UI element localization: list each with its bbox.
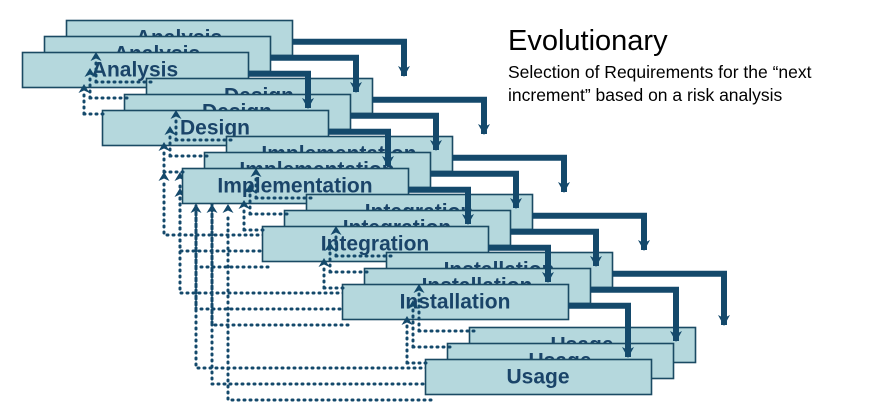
- feedback-long-integration: [196, 213, 268, 267]
- page-subtitle: Selection of Requirements for the “next …: [508, 61, 860, 107]
- heading-block: Evolutionary Selection of Requirements f…: [508, 24, 868, 107]
- stage-label-installation: Installation: [400, 291, 511, 314]
- page-title: Evolutionary: [508, 24, 868, 58]
- diagram-canvas: AnalysisAnalysisAnalysisDesignDesignDesi…: [0, 0, 881, 407]
- stage-label-usage: Usage: [506, 366, 569, 389]
- stage-box-usage[interactable]: Usage: [426, 360, 652, 395]
- stage-box-installation[interactable]: Installation: [343, 285, 569, 320]
